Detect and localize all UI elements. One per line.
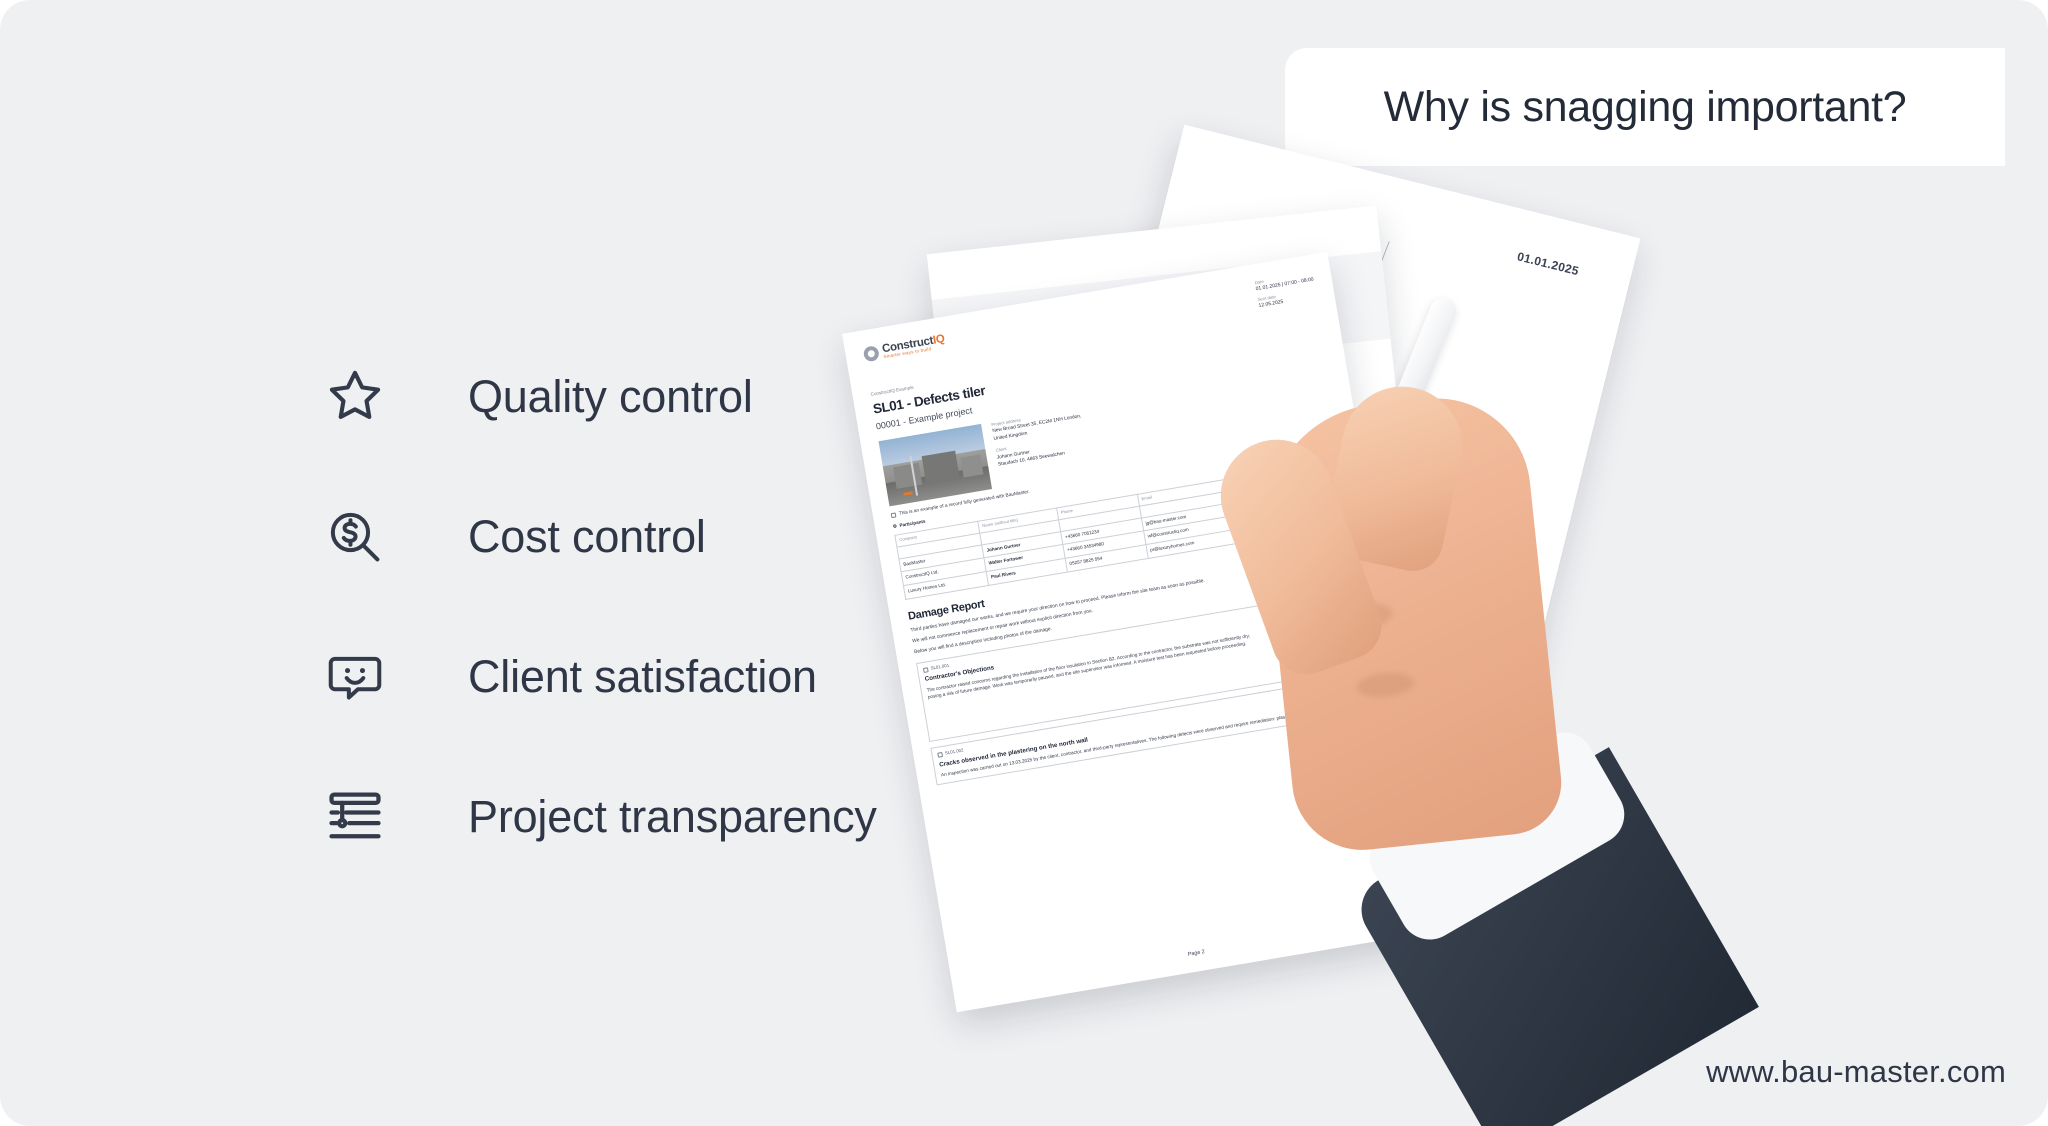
gear-logo-icon bbox=[863, 346, 880, 363]
website-url: www.bau-master.com bbox=[1706, 1054, 2006, 1090]
page-title: Why is snagging important? bbox=[1384, 83, 1907, 132]
address-block: Project address New Broad Street 35, EC2… bbox=[991, 407, 1091, 487]
chat-smiley-icon bbox=[318, 640, 392, 714]
site-photo bbox=[878, 423, 992, 505]
feature-label: Client satisfaction bbox=[468, 651, 817, 703]
slide-canvas: Why is snagging important? Quality contr… bbox=[0, 0, 2048, 1126]
feature-item-cost-control: Cost control bbox=[318, 500, 877, 574]
feature-label: Quality control bbox=[468, 371, 753, 423]
feature-label: Cost control bbox=[468, 511, 706, 563]
brand-logo: ConstructIQ Smarter ways to build bbox=[862, 333, 946, 364]
feature-item-quality-control: Quality control bbox=[318, 360, 877, 434]
hand-illustration bbox=[1190, 330, 1660, 1030]
list-outline-icon bbox=[318, 780, 392, 854]
feature-label: Project transparency bbox=[468, 791, 877, 843]
defect-checkbox[interactable] bbox=[923, 667, 929, 673]
star-icon bbox=[318, 360, 392, 434]
feature-item-client-satisfaction: Client satisfaction bbox=[318, 640, 877, 714]
feature-list: Quality control Cost control bbox=[318, 360, 877, 854]
title-card: Why is snagging important? bbox=[1285, 48, 2005, 166]
document-meta: Date 01.01.2025 | 07:00 - 08:00 Sent dat… bbox=[1254, 271, 1317, 314]
defect-checkbox[interactable] bbox=[937, 752, 943, 758]
participants-icon: ⚙ bbox=[892, 523, 897, 530]
blueprint-date: 01.01.2025 bbox=[1516, 249, 1581, 278]
document-illustration: 01.01.2025 ConstructIQ S bbox=[940, 170, 1960, 1030]
feature-item-project-transparency: Project transparency bbox=[318, 780, 877, 854]
note-checkbox[interactable] bbox=[891, 512, 897, 518]
magnifier-dollar-icon bbox=[318, 500, 392, 574]
